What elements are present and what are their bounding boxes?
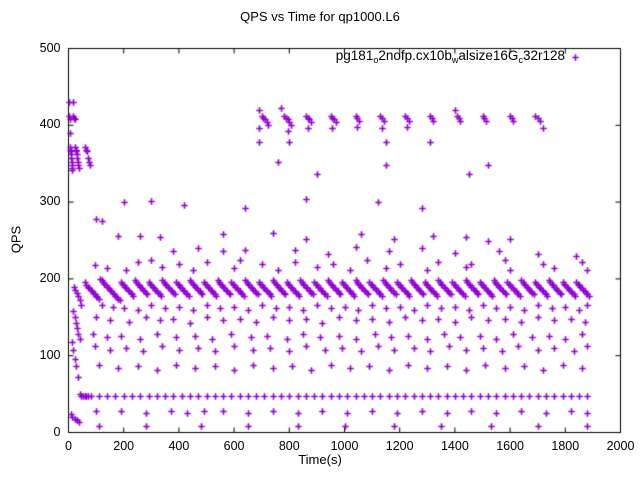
legend-text: pg181 — [336, 48, 374, 63]
x-tick-label: 2000 — [591, 439, 640, 453]
legend-text: 2nofp.cx10b — [378, 48, 452, 63]
chart-title: QPS vs Time for qp1000.L6 — [0, 9, 640, 24]
y-tick-label: 200 — [40, 271, 61, 285]
scatter-plot-canvas — [0, 0, 640, 480]
x-tick-label: 200 — [94, 439, 154, 453]
x-tick-label: 400 — [149, 439, 209, 453]
x-tick-label: 1000 — [315, 439, 375, 453]
legend-subscript: w — [452, 55, 459, 65]
y-tick-label: 0 — [54, 425, 61, 439]
legend-series-label: pg181o2nofp.cx10bwalsize16Gc32r128 — [336, 48, 565, 63]
x-tick-label: 0 — [39, 439, 99, 453]
y-tick-label: 100 — [40, 348, 61, 362]
legend-subscript: c — [518, 55, 523, 65]
x-tick-label: 1600 — [480, 439, 540, 453]
legend-text: alsize16G — [458, 48, 518, 63]
x-tick-label: 600 — [204, 439, 264, 453]
x-tick-label: 1200 — [370, 439, 430, 453]
x-tick-label: 1400 — [425, 439, 485, 453]
x-tick-label: 1800 — [535, 439, 595, 453]
y-tick-label: 300 — [40, 194, 61, 208]
y-tick-label: 400 — [40, 117, 61, 131]
y-tick-label: 500 — [40, 41, 61, 55]
x-axis-label: Time(s) — [0, 452, 640, 467]
legend-text: 32r128 — [523, 48, 565, 63]
y-axis-label: QPS — [9, 210, 24, 270]
x-tick-label: 800 — [259, 439, 319, 453]
legend-subscript: o — [373, 55, 378, 65]
chart-container: QPS vs Time for qp1000.L6 pg181o2nofp.cx… — [0, 0, 640, 480]
